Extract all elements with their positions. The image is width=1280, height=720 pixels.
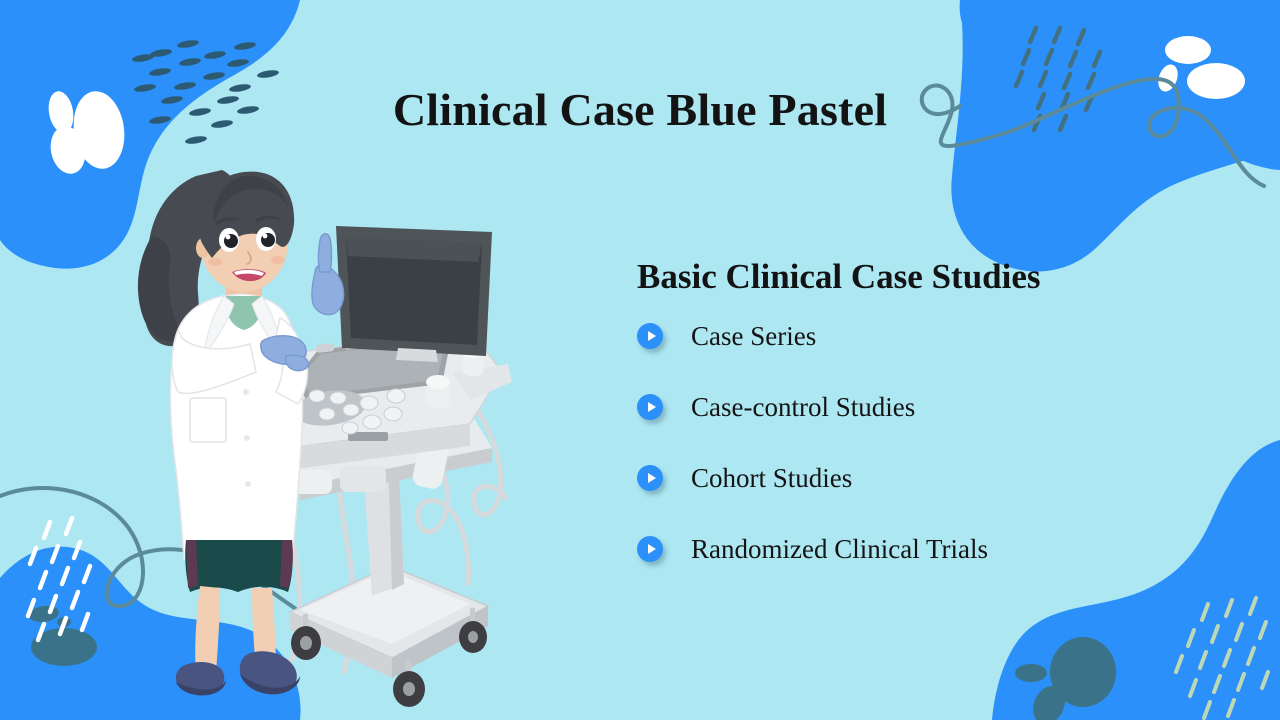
- pupil-left: [224, 234, 238, 248]
- cart-column: [362, 452, 404, 596]
- probe-cable: [418, 436, 469, 584]
- coat-lapel-right: [252, 296, 282, 356]
- list-item-label: Cohort Studies: [691, 463, 852, 493]
- skirt: [185, 540, 293, 592]
- play-circle-icon: [637, 536, 663, 562]
- eyebrow-right: [256, 216, 282, 224]
- content-block: Basic Clinical Case Studies Case Series …: [637, 255, 1237, 605]
- coat-button: [244, 435, 250, 441]
- cart-handle: [290, 470, 332, 494]
- skirt-trim-left: [186, 540, 198, 588]
- play-circle-icon: [637, 465, 663, 491]
- dark-ellipse: [1015, 664, 1047, 682]
- probe-holder: [426, 375, 450, 408]
- eyebrow-left: [216, 217, 242, 226]
- panel-knobs: [281, 389, 405, 434]
- pale-dash-cluster: [1176, 598, 1268, 718]
- leg-left: [195, 586, 220, 672]
- keyboard: [296, 334, 452, 400]
- cart-lower-shelf-shade: [300, 448, 492, 500]
- cart-lower-shelf: [286, 412, 492, 486]
- doctor-figure: [138, 170, 344, 695]
- glove-pointing-hand: [312, 264, 344, 315]
- cheek-blush: [271, 256, 285, 264]
- ear: [196, 238, 210, 258]
- cart-base: [290, 566, 488, 658]
- neck: [226, 286, 262, 312]
- panel-top-buttons: [316, 332, 447, 353]
- probe-tray: [452, 364, 512, 400]
- trackball-pad: [292, 386, 368, 430]
- eye-left: [219, 228, 239, 252]
- list-item[interactable]: Cohort Studies: [637, 463, 1237, 493]
- glove-index-finger: [319, 234, 332, 272]
- shoe-left: [176, 662, 224, 694]
- nose: [247, 252, 251, 264]
- monitor-highlight: [346, 238, 482, 262]
- glove-lower-hand: [261, 336, 306, 365]
- list-item[interactable]: Randomized Clinical Trials: [637, 534, 1237, 564]
- leg-right: [252, 588, 276, 670]
- skirt-trim-right: [280, 540, 293, 588]
- monitor-screen: [346, 238, 482, 345]
- control-panel-front: [288, 424, 470, 470]
- blue-blob-bottom-left: [0, 547, 301, 720]
- probe-cable: [292, 452, 300, 660]
- ultrasound-cart: [268, 226, 512, 707]
- cart-base-side2: [392, 606, 488, 678]
- coat-lapel-left: [204, 296, 234, 356]
- eye-highlight: [263, 234, 268, 239]
- cart-handle: [411, 433, 451, 490]
- cart-base-highlight: [300, 570, 470, 644]
- curved-squiggle-line-bottom-left: [0, 488, 352, 640]
- coat-button: [245, 481, 251, 487]
- shoe-sole: [240, 674, 300, 694]
- dark-ellipse: [28, 604, 60, 624]
- dark-ellipse: [31, 628, 97, 666]
- shoe-right: [240, 651, 297, 694]
- content-heading: Basic Clinical Case Studies: [637, 255, 1237, 299]
- probe-holder: [462, 346, 484, 376]
- list-item-label: Randomized Clinical Trials: [691, 534, 988, 564]
- probe-cable: [474, 410, 506, 515]
- case-studies-list: Case Series Case-control Studies Cohort …: [637, 321, 1237, 564]
- vent-grille: [348, 432, 388, 441]
- dark-ellipse: [1027, 681, 1071, 720]
- shirt: [226, 296, 263, 330]
- list-item[interactable]: Case-control Studies: [637, 392, 1237, 422]
- cart-wheels: [291, 566, 487, 707]
- mouth: [232, 269, 266, 281]
- control-panel-side: [268, 404, 288, 470]
- play-circle-icon: [637, 394, 663, 420]
- control-panel: [268, 330, 502, 448]
- hair-back: [143, 170, 237, 346]
- white-ellipse: [1165, 36, 1211, 64]
- head: [200, 192, 288, 292]
- lab-coat: [170, 294, 302, 560]
- hair-fringe: [213, 176, 288, 224]
- cart-handle: [340, 466, 386, 492]
- monitor-bezel: [336, 226, 492, 356]
- keyboard-keys: [302, 339, 446, 396]
- monitor-neck: [396, 348, 438, 362]
- glove-thumb: [285, 355, 308, 370]
- dark-ellipse: [1050, 637, 1116, 707]
- coat-pocket: [190, 398, 226, 442]
- list-item[interactable]: Case Series: [637, 321, 1237, 351]
- list-item-label: Case Series: [691, 321, 816, 351]
- pupil-right: [261, 233, 275, 247]
- teeth: [234, 270, 264, 276]
- cart-column-shade: [388, 452, 404, 590]
- shoe-sole: [176, 680, 226, 695]
- hair-front: [199, 172, 294, 258]
- eye-right: [256, 227, 276, 251]
- eye-highlight: [226, 235, 231, 240]
- coat-button: [243, 389, 249, 395]
- presentation-slide: Clinical Case Blue Pastel Basic Clinical…: [0, 0, 1280, 720]
- cheek-blush: [208, 258, 222, 266]
- cart-base-side: [290, 612, 392, 678]
- dark-ellipse: [57, 617, 71, 627]
- probe-cable: [339, 452, 353, 672]
- white-dash-cluster: [28, 518, 90, 640]
- arm-raised-right: [276, 318, 308, 404]
- hair-ponytail: [138, 236, 184, 341]
- arm-lower-left: [172, 330, 256, 393]
- play-circle-icon: [637, 323, 663, 349]
- page-title: Clinical Case Blue Pastel: [0, 83, 1280, 136]
- list-item-label: Case-control Studies: [691, 392, 915, 422]
